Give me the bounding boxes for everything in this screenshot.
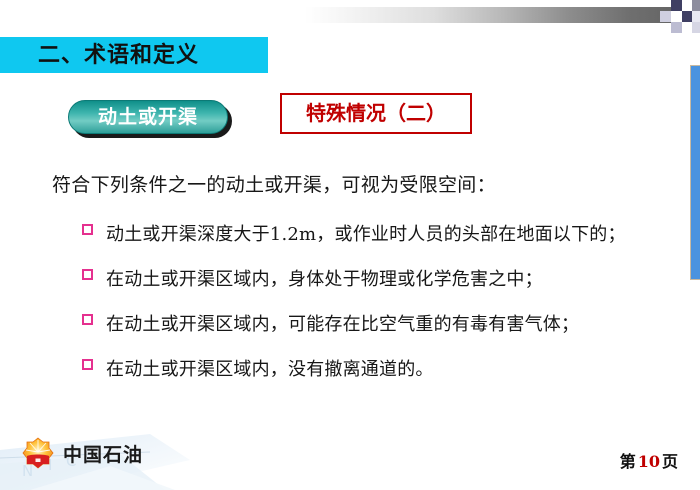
checker-square-7 — [692, 11, 700, 22]
list-item: 动土或开渠深度大于1.2m，或作业时人员的头部在地面以下的； — [82, 216, 662, 253]
page-number-prefix: 第 — [620, 452, 636, 471]
list-item: 在动土或开渠区域内，身体处于物理或化学危害之中； — [82, 261, 662, 298]
checker-square-1 — [671, 0, 682, 11]
bullet-list: 动土或开渠深度大于1.2m，或作业时人员的头部在地面以下的； 在动土或开渠区域内… — [82, 216, 662, 396]
square-bullet-icon — [82, 359, 93, 370]
brand-logo: 中国石油 — [22, 437, 143, 469]
callout-label: 特殊情况（二） — [280, 93, 472, 134]
page-number-suffix: 页 — [662, 452, 678, 471]
page-number-value: 10 — [636, 452, 662, 471]
square-bullet-icon — [82, 224, 93, 235]
checker-square-8 — [671, 22, 682, 33]
list-item-text: 在动土或开渠区域内，没有撤离通道的。 — [106, 351, 662, 388]
intro-paragraph: 符合下列条件之一的动土或开渠，可视为受限空间： — [52, 170, 652, 197]
list-item: 在动土或开渠区域内，可能存在比空气重的有毒有害气体； — [82, 306, 662, 343]
list-item-text: 在动土或开渠区域内，可能存在比空气重的有毒有害气体； — [106, 306, 662, 343]
petrochina-sunburst-icon — [22, 437, 54, 469]
brand-name: 中国石油 — [63, 440, 143, 467]
checker-square-10 — [692, 22, 700, 33]
header-gradient-bar — [305, 7, 682, 23]
checker-square-2 — [682, 0, 692, 11]
checker-square-9 — [682, 22, 692, 33]
checker-square-6 — [682, 11, 692, 22]
right-accent-bar — [690, 65, 700, 280]
list-item-text: 动土或开渠深度大于1.2m，或作业时人员的头部在地面以下的； — [106, 216, 662, 253]
checker-square-4 — [660, 11, 671, 22]
page-title: 二、术语和定义 — [38, 40, 268, 71]
list-item-text: 在动土或开渠区域内，身体处于物理或化学危害之中； — [106, 261, 662, 298]
page-number: 第10页 — [620, 448, 678, 472]
list-item: 在动土或开渠区域内，没有撤离通道的。 — [82, 351, 662, 388]
checker-square-5 — [671, 11, 682, 22]
square-bullet-icon — [82, 314, 93, 325]
slide-canvas: 二、术语和定义 动土或开渠 特殊情况（二） 符合下列条件之一的动土或开渠，可视为… — [0, 0, 700, 490]
checker-square-3 — [692, 0, 700, 11]
square-bullet-icon — [82, 269, 93, 280]
topic-badge-label: 动土或开渠 — [68, 100, 228, 134]
